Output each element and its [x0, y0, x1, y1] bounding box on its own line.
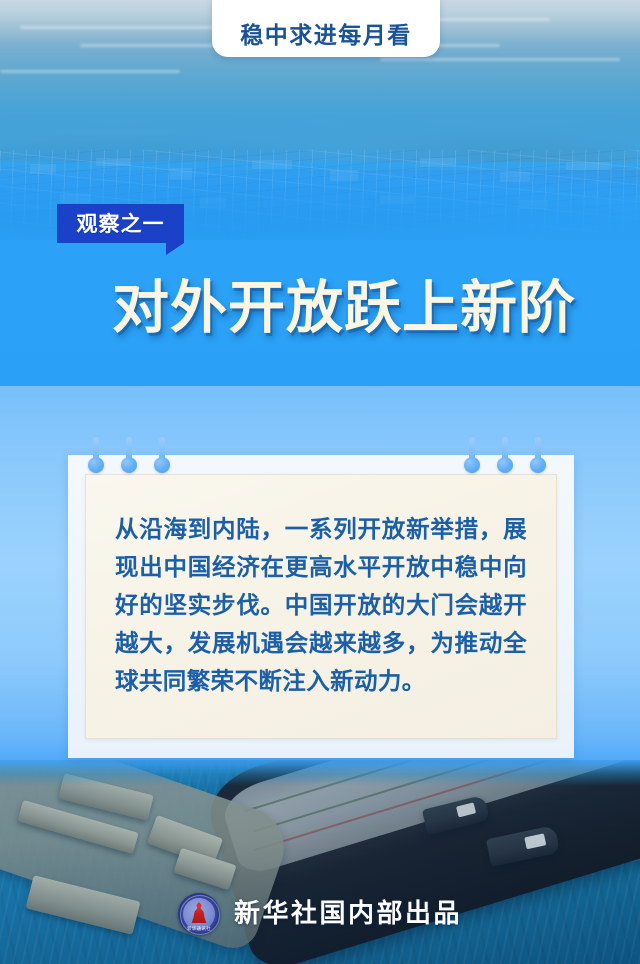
section-tag[interactable]: 观察之一 — [57, 204, 184, 243]
note-card-inner-panel: 从沿海到内陆，一系列开放新举措，展现出中国经济在更高水平开放中稳中向好的坚实步伐… — [85, 474, 557, 739]
series-badge[interactable]: 稳中求进每月看 — [212, 0, 440, 57]
series-badge-label: 稳中求进每月看 — [240, 25, 412, 48]
section-tag-label: 观察之一 — [77, 213, 165, 234]
binder-pin-icon — [88, 437, 104, 473]
cloud-streak — [0, 70, 180, 73]
page-title: 对外开放跃上新阶 — [112, 272, 572, 342]
xinhua-logo-icon: 新华通讯社 — [178, 893, 220, 935]
cloud-streak — [20, 26, 220, 29]
footer: 新华通讯社 新华社国内部出品 — [0, 888, 640, 940]
binder-pin-icon — [530, 437, 546, 473]
note-card-body-text: 从沿海到内陆，一系列开放新举措，展现出中国经济在更高水平开放中稳中向好的坚实步伐… — [115, 510, 527, 700]
photo-top-fade — [0, 760, 640, 786]
page-title-text: 对外开放跃上新阶 — [112, 279, 576, 336]
cloud-streak — [380, 58, 620, 61]
binder-pin-icon — [154, 437, 170, 473]
binder-pin-icon — [497, 437, 513, 473]
binder-pin-icon — [121, 437, 137, 473]
publisher-label: 新华社国内部出品 — [234, 901, 462, 927]
binder-pin-icon — [464, 437, 480, 473]
section-tag-tail-icon — [166, 243, 184, 255]
note-card: 从沿海到内陆，一系列开放新举措，展现出中国经济在更高水平开放中稳中向好的坚实步伐… — [68, 455, 574, 758]
xinhua-logo-ring-text: 新华通讯社 — [178, 926, 220, 932]
poster-root: 稳中求进每月看 观察之一 对外开放跃上新阶 从沿海到内陆，一系列开放新举措，展现… — [0, 0, 640, 964]
